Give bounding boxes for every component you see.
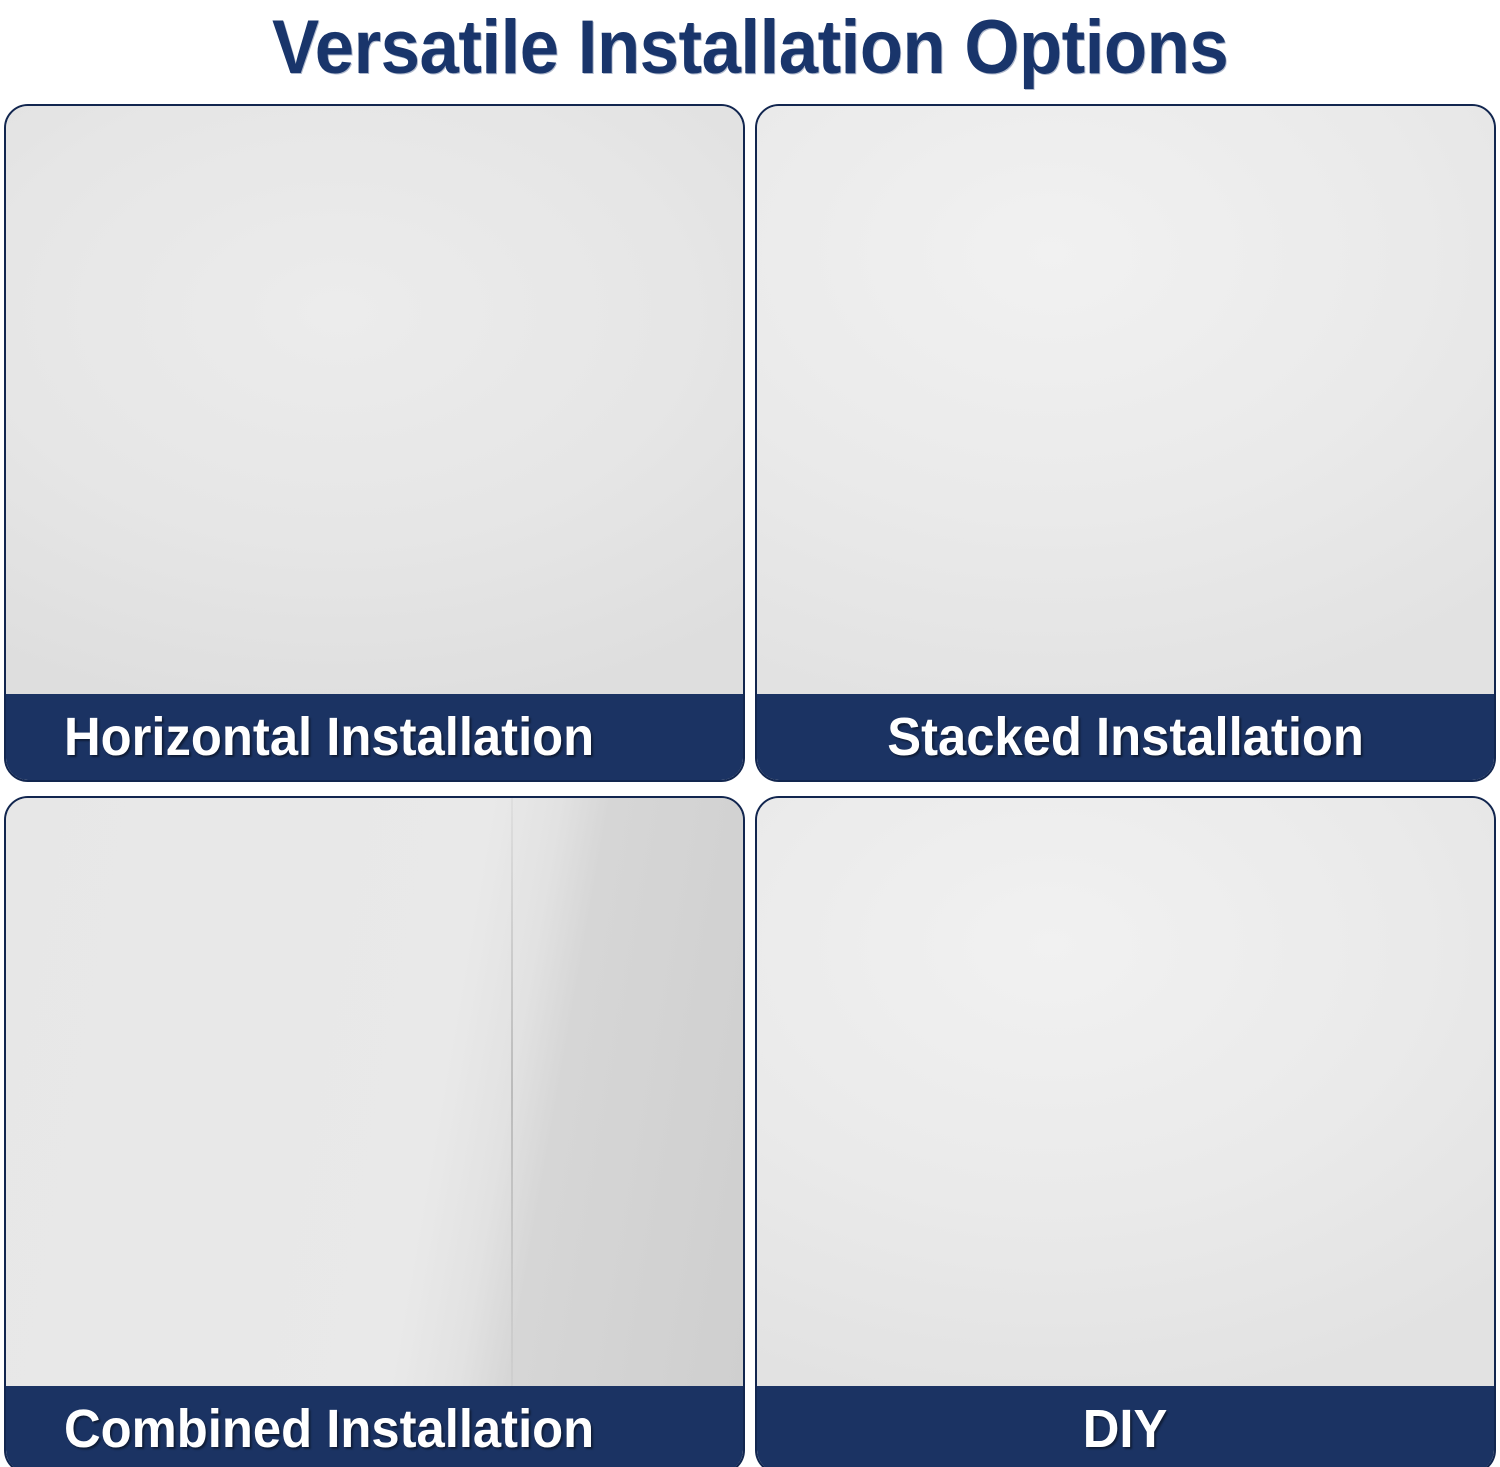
panel-horizontal[interactable]: Horizontal Installation: [4, 104, 745, 782]
panel-diy-caption-text: DIY: [1083, 1400, 1168, 1458]
panel-stacked-caption: Stacked Installation: [757, 694, 1494, 780]
installation-options-grid: Horizontal Installation: [4, 104, 1496, 1464]
panel-combined-photo: [6, 798, 743, 1386]
page-title-bar: Versatile Installation Options: [0, 0, 1500, 96]
panel-diy-photo: [757, 798, 1494, 1386]
panel-stacked[interactable]: Stacked Installation: [755, 104, 1496, 782]
panel-stacked-caption-text: Stacked Installation: [887, 708, 1364, 766]
wall-surface: [757, 798, 1494, 1386]
wall-surface: [6, 106, 743, 694]
wall-surface: [757, 106, 1494, 694]
panel-horizontal-photo: [6, 106, 743, 694]
panel-combined-caption: Combined Installation: [6, 1386, 743, 1467]
panel-horizontal-caption: Horizontal Installation: [6, 694, 743, 780]
panel-diy-caption: DIY: [757, 1386, 1494, 1467]
panel-diy[interactable]: DIY: [755, 796, 1496, 1467]
panel-combined[interactable]: Combined Installation: [4, 796, 745, 1467]
infographic-page: Versatile Installation Options: [0, 0, 1500, 1467]
page-title: Versatile Installation Options: [272, 8, 1228, 88]
panel-stacked-photo: [757, 106, 1494, 694]
panel-horizontal-caption-text: Horizontal Installation: [64, 708, 594, 766]
wall-surface-corner: [6, 798, 743, 1386]
panel-combined-caption-text: Combined Installation: [64, 1400, 594, 1458]
